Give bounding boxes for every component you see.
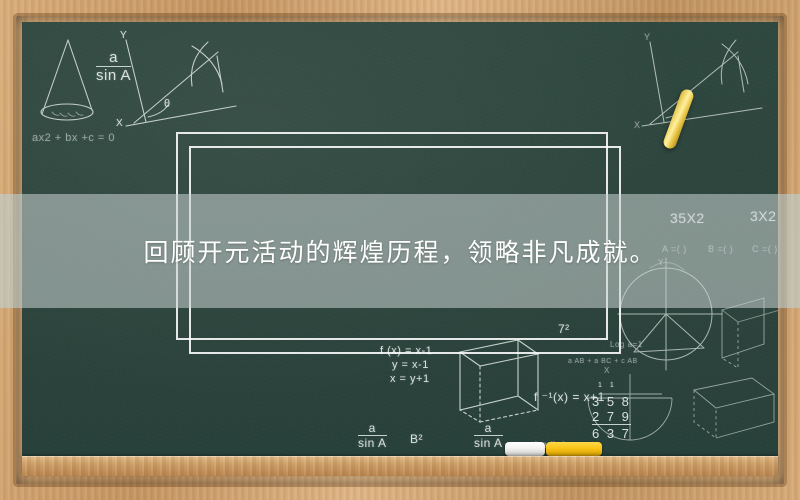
banner-caption: 回顾开元活动的辉煌历程，领略非凡成就。 bbox=[143, 233, 656, 269]
chalk-ledge bbox=[22, 456, 778, 476]
ledge-chalk-white-icon bbox=[505, 442, 545, 456]
caption-band: 回顾开元活动的辉煌历程，领略非凡成就。 bbox=[0, 194, 800, 308]
chalkboard-banner: a sin A Y X θ ax2 + bx +c = 0 bbox=[0, 0, 800, 500]
ledge-chalk-yellow-icon bbox=[546, 442, 602, 456]
